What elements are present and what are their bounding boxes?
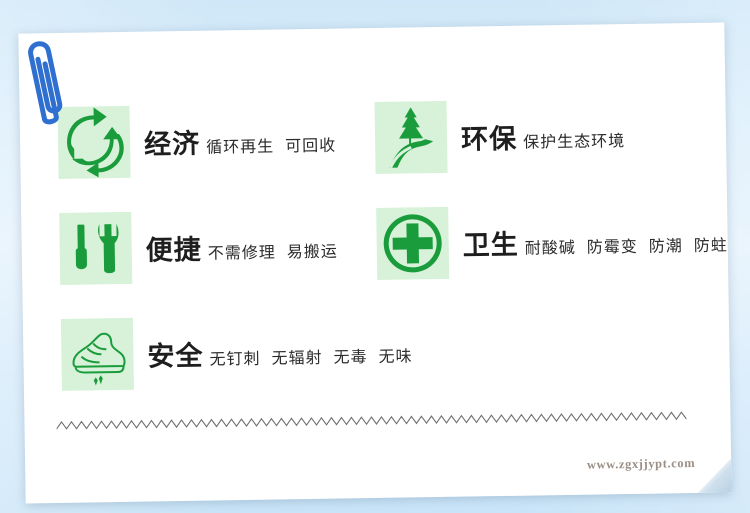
zigzag-divider bbox=[56, 409, 686, 433]
feature-title: 卫生 bbox=[462, 222, 519, 262]
feature-title: 安全 bbox=[147, 333, 204, 373]
feature-desc-part: 防蛀 bbox=[694, 237, 728, 255]
feature-desc-part: 保护生态环境 bbox=[523, 133, 625, 152]
feature-desc: 保护生态环境 bbox=[523, 127, 625, 153]
feature-desc-part: 循环再生 bbox=[206, 138, 274, 156]
medical-cross-icon bbox=[376, 207, 449, 280]
feature-text: 安全 无钉刺无辐射无毒无味 bbox=[147, 330, 413, 373]
screenshot-stage: 经济 循环再生可回收 bbox=[0, 0, 750, 513]
feature-desc: 不需修理易搬运 bbox=[208, 237, 338, 263]
feature-desc: 循环再生可回收 bbox=[206, 131, 336, 157]
feature-title: 环保 bbox=[461, 116, 518, 156]
feature-desc-part: 防潮 bbox=[649, 238, 683, 256]
shoe-icon bbox=[61, 318, 134, 391]
feature-desc-part: 耐酸碱 bbox=[525, 239, 576, 257]
feature-text: 便捷 不需修理易搬运 bbox=[145, 225, 338, 267]
feature-title: 经济 bbox=[144, 121, 201, 161]
feature-desc: 耐酸碱防霉变防潮防蛀 bbox=[525, 231, 728, 258]
feature-item-convenient: 便捷 不需修理易搬运 bbox=[59, 209, 338, 285]
feature-desc-part: 易搬运 bbox=[287, 243, 338, 261]
feature-item-economy: 经济 循环再生可回收 bbox=[58, 103, 337, 179]
feature-desc-part: 无钉刺 bbox=[209, 350, 260, 368]
feature-item-environment: 环保 保护生态环境 bbox=[374, 98, 625, 174]
feature-item-safety: 安全 无钉刺无辐射无毒无味 bbox=[61, 313, 413, 391]
feature-desc-part: 不需修理 bbox=[208, 244, 276, 262]
feature-text: 环保 保护生态环境 bbox=[461, 115, 626, 157]
feature-item-hygiene: 卫生 耐酸碱防霉变防潮防蛀 bbox=[376, 202, 728, 280]
feature-desc-part: 无毒 bbox=[333, 349, 367, 367]
feature-desc-part: 防霉变 bbox=[587, 238, 638, 256]
paper-sheet: 经济 循环再生可回收 bbox=[18, 22, 731, 503]
feature-desc-part: 无辐射 bbox=[271, 349, 322, 367]
tools-icon bbox=[59, 212, 132, 285]
feature-list: 经济 循环再生可回收 bbox=[18, 22, 731, 503]
tree-icon bbox=[374, 101, 447, 174]
feature-desc-part: 无味 bbox=[378, 348, 412, 366]
feature-text: 卫生 耐酸碱防霉变防潮防蛀 bbox=[462, 219, 728, 262]
feature-title: 便捷 bbox=[145, 227, 202, 267]
watermark-url: www.zgxjjypt.com bbox=[587, 456, 695, 473]
feature-desc: 无钉刺无辐射无毒无味 bbox=[209, 342, 412, 369]
feature-desc-part: 可回收 bbox=[285, 137, 336, 155]
feature-text: 经济 循环再生可回收 bbox=[144, 119, 337, 161]
